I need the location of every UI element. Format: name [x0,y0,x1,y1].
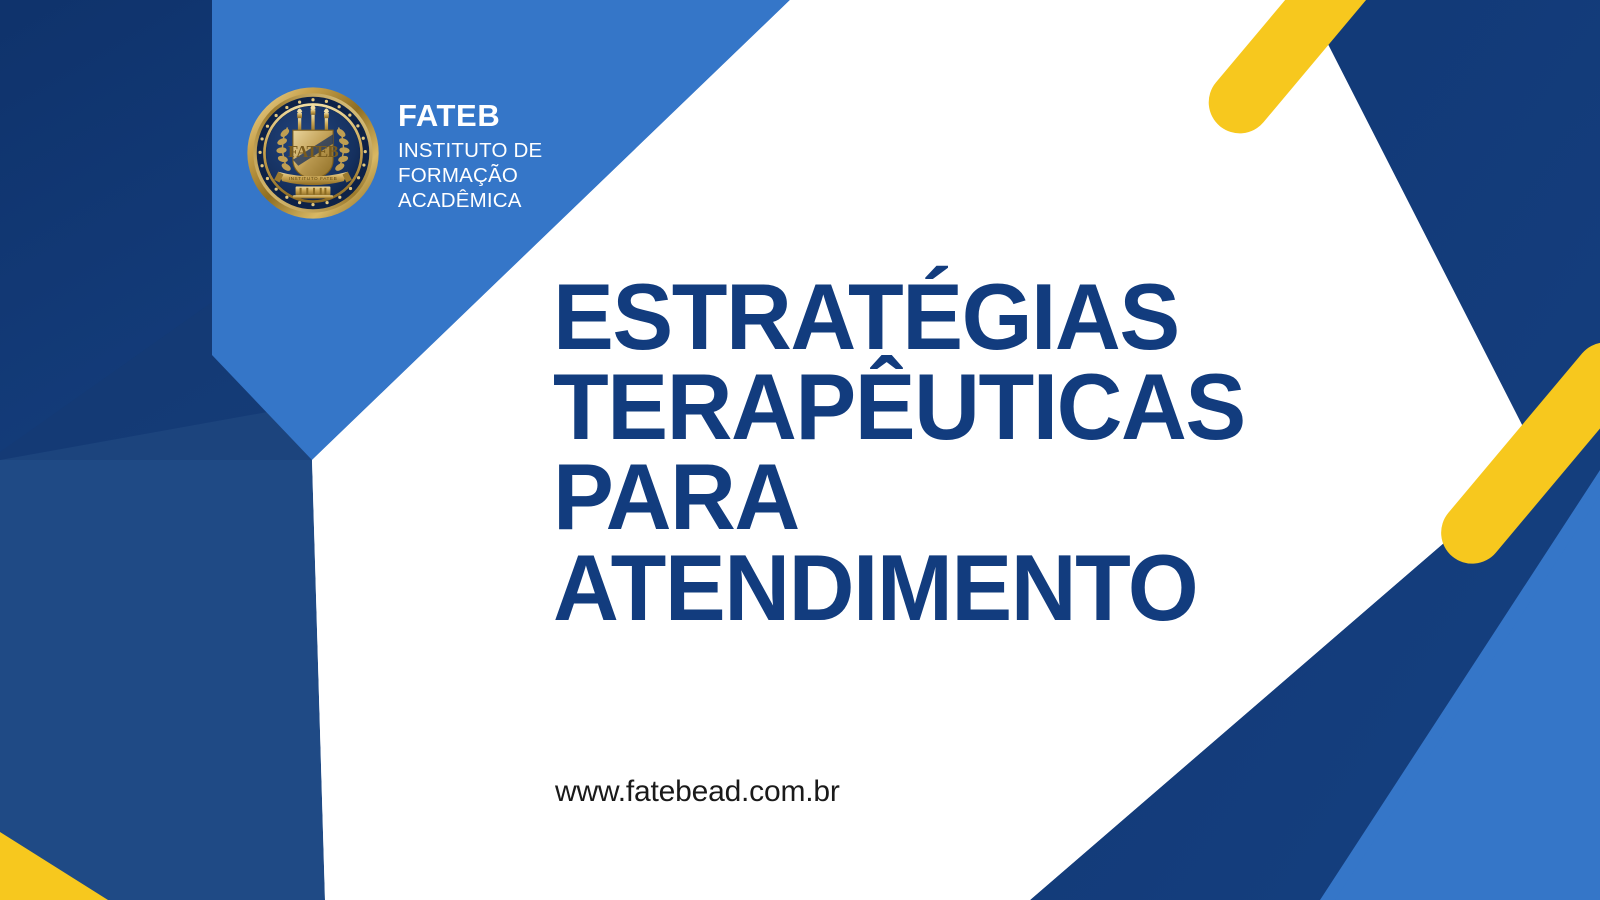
website-url[interactable]: www.fatebead.com.br [555,775,840,809]
title-line-3: PARA [553,452,1290,542]
title-line-4: ATENDIMENTO [553,543,1290,633]
fateb-seal-icon: FATEB FATEB INSTITUTO FATEB [246,86,380,220]
brand-acronym: FATEB [398,100,542,133]
slide-title: ESTRATÉGIAS TERAPÊUTICAS PARA ATENDIMENT… [553,272,1313,633]
brand-subtitle-line-1: INSTITUTO DE [398,138,542,163]
brand-subtitle-line-2: FORMAÇÃO [398,163,542,188]
brand-subtitle-line-3: ACADÊMICA [398,188,542,213]
title-line-1: ESTRATÉGIAS [553,272,1290,362]
title-line-2: TERAPÊUTICAS [553,362,1290,452]
presentation-slide: FATEB FATEB INSTITUTO FATEB FATEB INSTIT… [0,0,1600,900]
svg-text:FATEB: FATEB [288,142,339,161]
svg-text:INSTITUTO FATEB: INSTITUTO FATEB [289,176,338,181]
brand-text-block: FATEB INSTITUTO DE FORMAÇÃO ACADÊMICA [398,86,542,213]
brand-logo-lockup: FATEB FATEB INSTITUTO FATEB FATEB INSTIT… [246,86,542,220]
